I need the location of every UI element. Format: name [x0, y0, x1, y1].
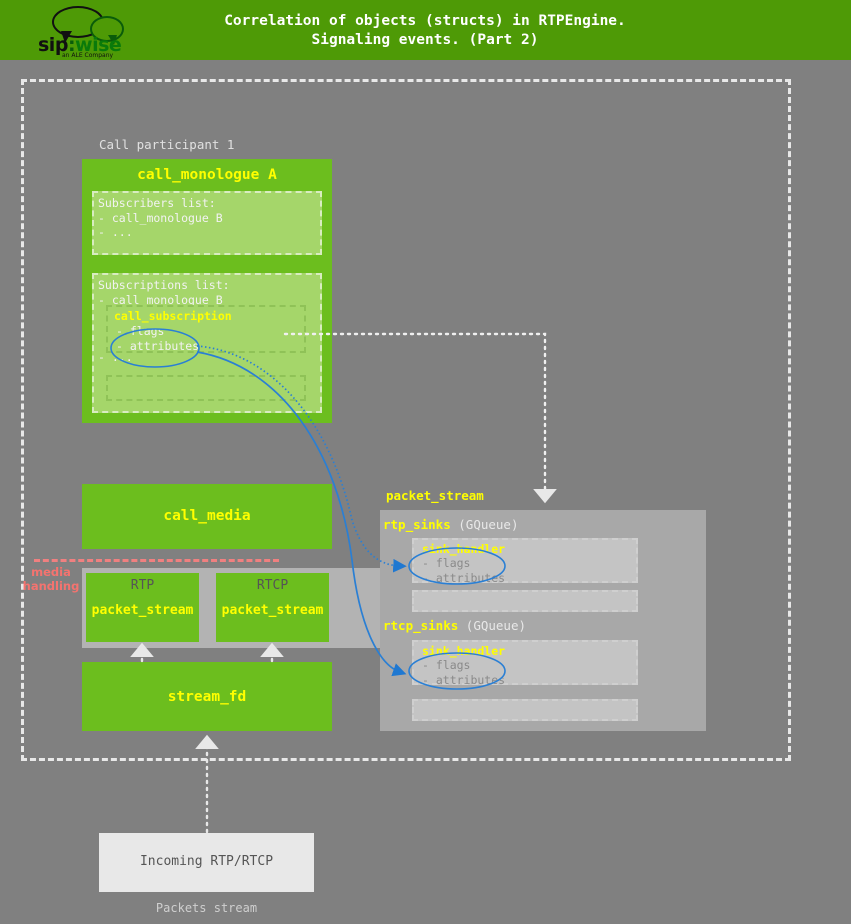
rtp-stream-name: packet_stream [86, 603, 199, 618]
call-media-title: call_media [82, 508, 332, 524]
media-handling-label: media handling [22, 565, 80, 593]
page-title: Correlation of objects (structs) in RTPE… [160, 12, 690, 50]
rtp-sink-placeholder-box [412, 590, 638, 612]
call-subscription-fields: - flags - attributes [116, 324, 199, 353]
empty-subscription-placeholder [106, 375, 306, 401]
stream-fd-title: stream_fd [82, 689, 332, 705]
rtp-sink-handler-fields: - flags - attributes [422, 556, 505, 585]
media-handling-line2: handling [22, 579, 80, 593]
rtp-sink-handler-title: sink_handler [422, 542, 505, 556]
subscribers-list-panel: Subscribers list: - call_monologue B - .… [92, 191, 322, 255]
subscriptions-list-panel: Subscriptions list: - call monologue B c… [92, 273, 322, 413]
rtcp-sink-handler-fields: - flags - attributes [422, 658, 505, 687]
rtp-sink-handler-box: sink_handler - flags - attributes [412, 538, 638, 583]
rtcp-stream-name: packet_stream [216, 603, 329, 618]
media-handling-line1: media [22, 565, 80, 579]
logo-tagline: an ALE Company [62, 52, 113, 59]
sipwise-logo: sip:wise an ALE Company [30, 2, 140, 58]
rtcp-packet-stream-box: RTCP packet_stream [216, 573, 329, 642]
incoming-packets-box: Incoming RTP/RTCP [99, 833, 314, 892]
page-title-line2: Signaling events. (Part 2) [160, 31, 690, 50]
rtp-packet-stream-box: RTP packet_stream [86, 573, 199, 642]
rtcp-stream-kind: RTCP [216, 578, 329, 593]
rtcp-sink-handler-title: sink_handler [422, 644, 505, 658]
rtcp-sinks-name: rtcp_sinks [383, 618, 458, 633]
rtp-sinks-name: rtp_sinks [383, 517, 451, 532]
rtcp-sink-handler-box: sink_handler - flags - attributes [412, 640, 638, 685]
packet-stream-panel-label: packet_stream [386, 488, 484, 503]
incoming-packets-label: Incoming RTP/RTCP [99, 854, 314, 869]
rtcp-sinks-label: rtcp_sinks (GQueue) [383, 618, 526, 633]
call-media-box: call_media [82, 484, 332, 549]
call-subscription-title: call_subscription [114, 309, 232, 323]
call-participant-label: Call participant 1 [99, 137, 234, 152]
rtp-stream-kind: RTP [86, 578, 199, 593]
rtp-sinks-label: rtp_sinks (GQueue) [383, 517, 518, 532]
page-header: sip:wise an ALE Company Correlation of o… [0, 0, 851, 60]
call-monologue-a-title: call_monologue A [82, 167, 332, 183]
subscriptions-list-text: Subscriptions list: - call monologue B [98, 278, 230, 307]
page-title-line1: Correlation of objects (structs) in RTPE… [160, 12, 690, 31]
packets-stream-caption: Packets stream [99, 901, 314, 915]
rtcp-sink-placeholder-box [412, 699, 638, 721]
subscriptions-ellipsis: - ... [98, 350, 133, 365]
rtp-sinks-type: (GQueue) [458, 517, 518, 532]
stream-fd-box: stream_fd [82, 662, 332, 731]
packet-stream-panel: rtp_sinks (GQueue) sink_handler - flags … [380, 510, 706, 731]
media-handling-divider [34, 559, 279, 562]
rtcp-sinks-type: (GQueue) [466, 618, 526, 633]
call-monologue-a-box: call_monologue A Subscribers list: - cal… [82, 159, 332, 423]
subscribers-list-text: Subscribers list: - call_monologue B - .… [98, 196, 223, 240]
